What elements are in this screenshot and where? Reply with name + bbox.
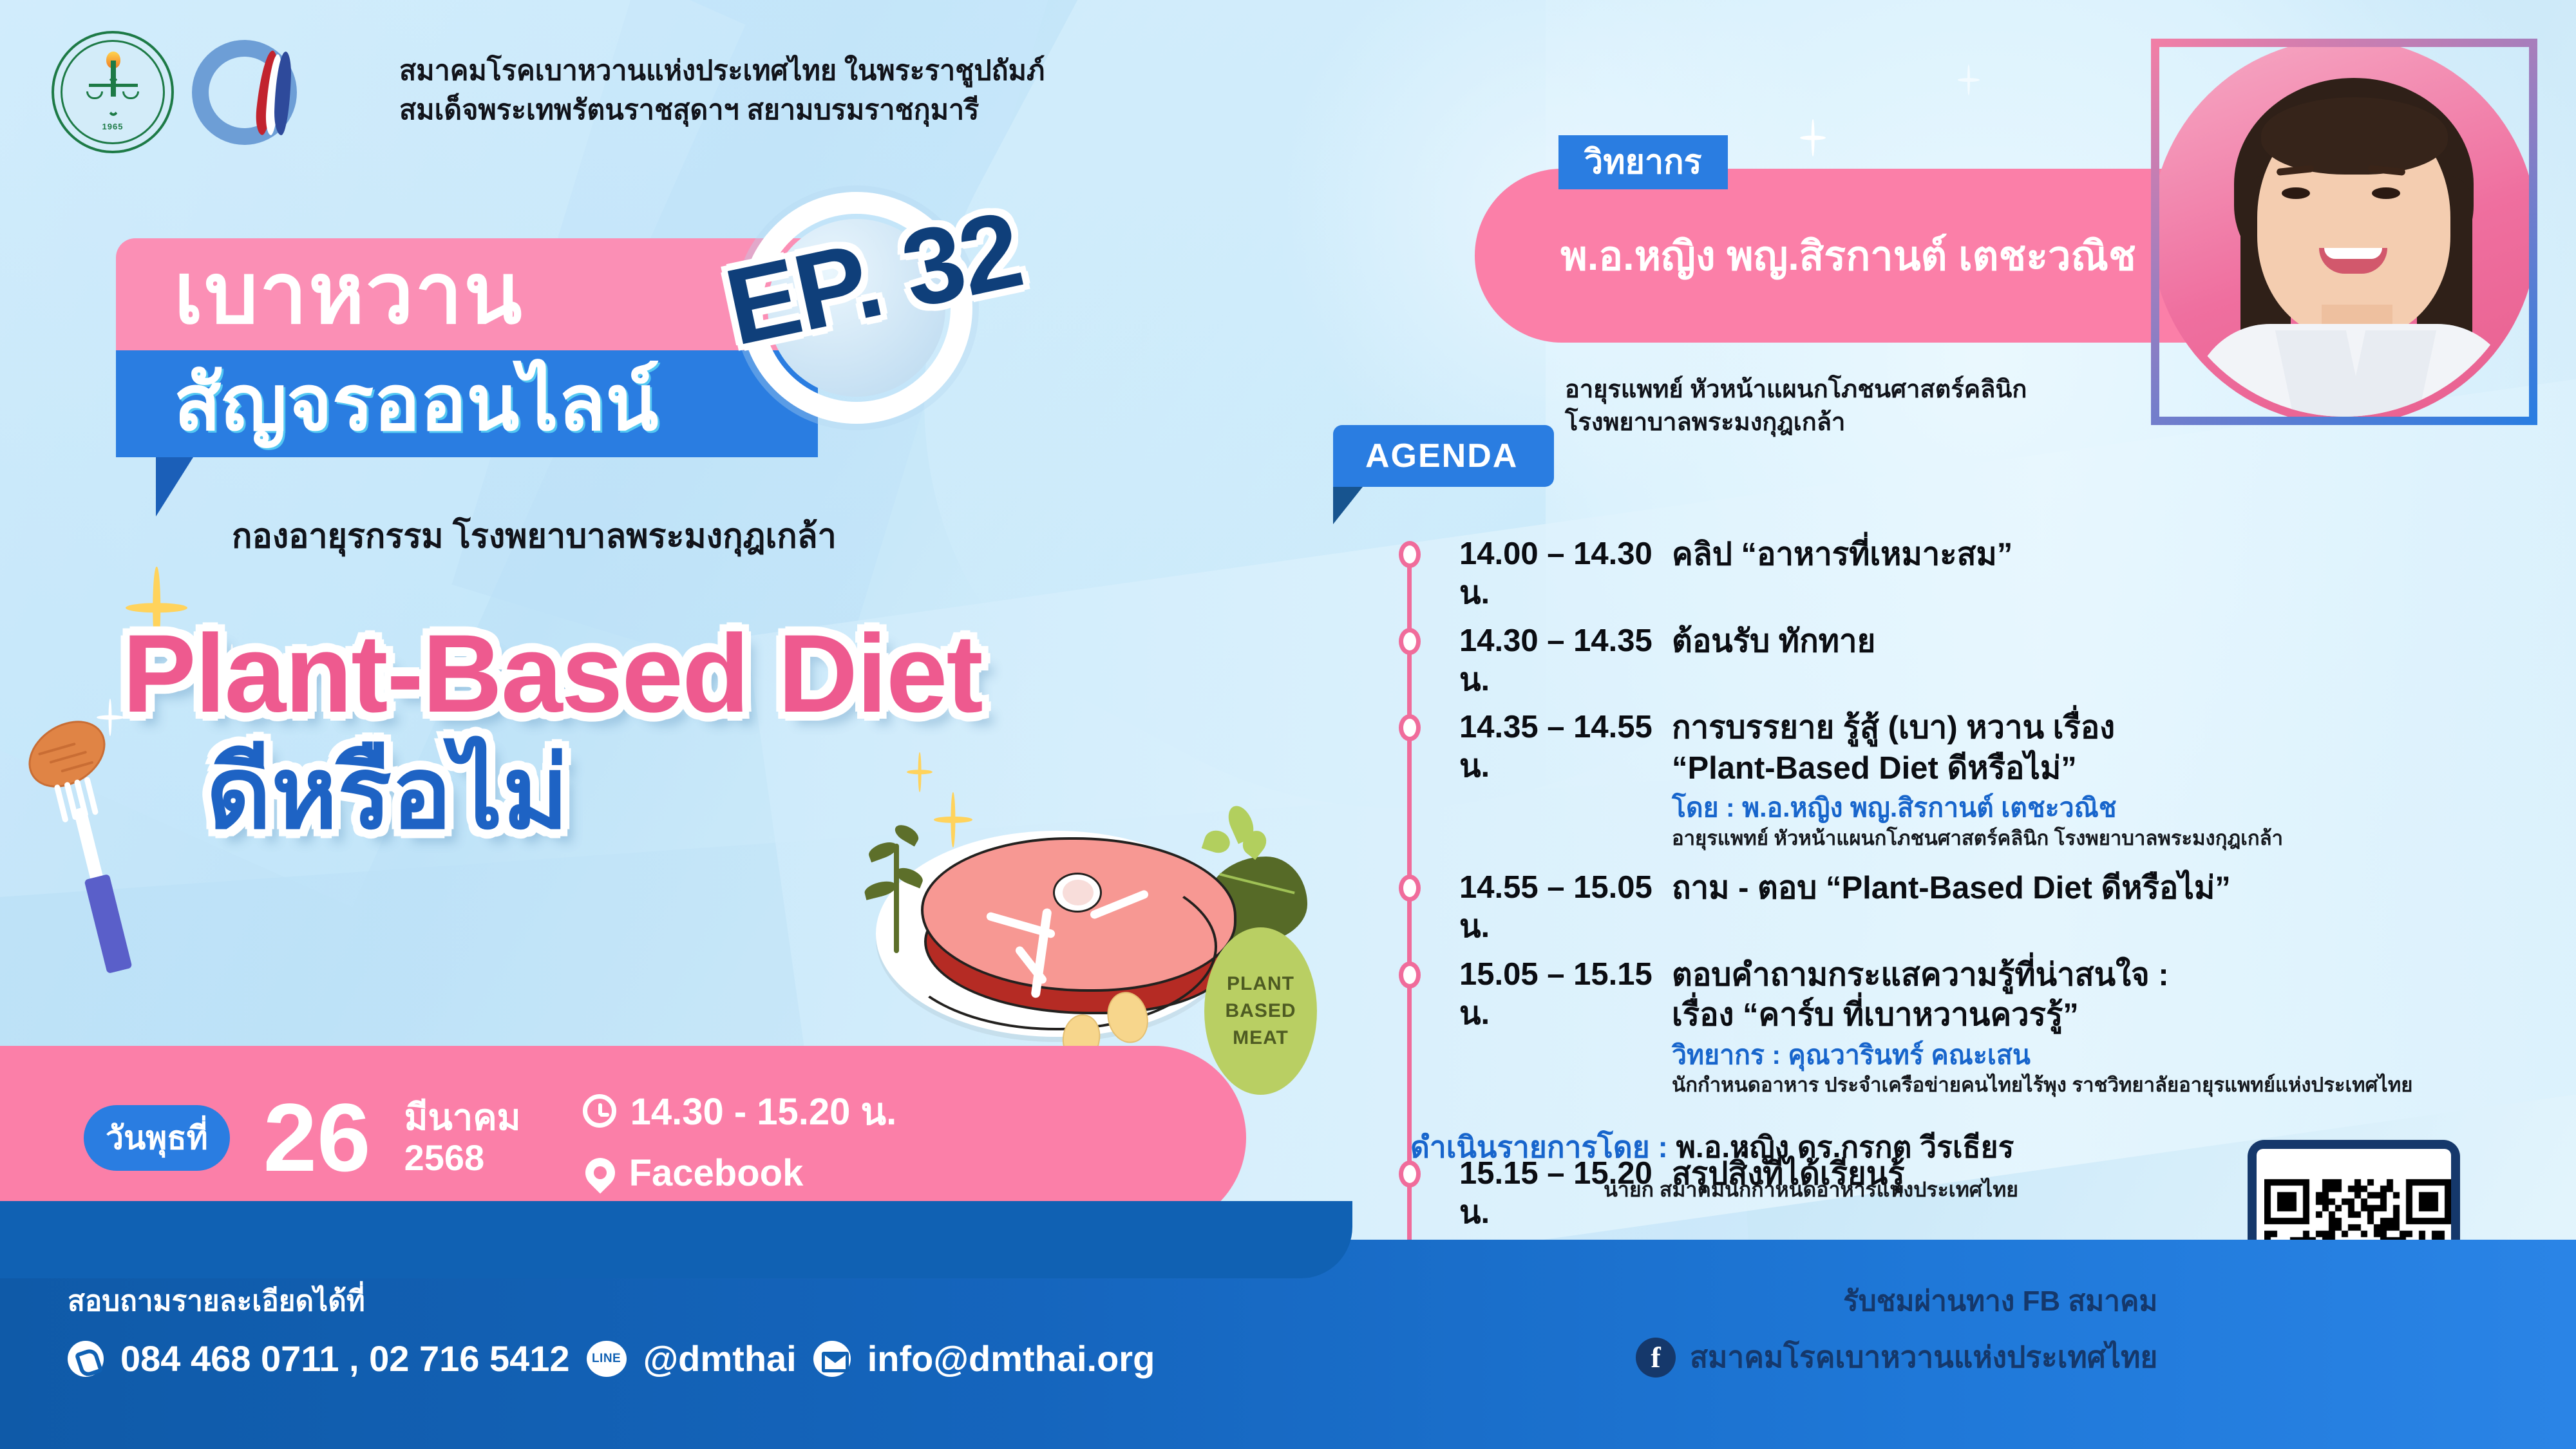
footer-watch: รับชมผ่านทาง FB สมาคม f สมาคมโรคเบาหวานแ… (1636, 1278, 2157, 1381)
location-pin-icon (579, 1151, 621, 1193)
agenda-row: 14.00 – 14.30 น.คลิป “อาหารที่เหมาะสม” (1397, 535, 2550, 614)
agenda-time: 15.05 – 15.15 น. (1459, 955, 1672, 1099)
speaker-subtitle: อายุรแพทย์ หัวหน้าแผนกโภชนศาสตร์คลินิก โ… (1565, 374, 2027, 440)
agenda-body: ต้อนรับ ทักทาย (1672, 621, 2550, 701)
agenda-time: 14.35 – 14.55 น. (1459, 708, 1672, 851)
agenda-row: 14.55 – 15.05 น.ถาม - ตอบ “Plant-Based D… (1397, 868, 2550, 947)
agenda-title-line: เรื่อง “คาร์บ ที่เบาหวานควรรู้” (1672, 995, 2550, 1036)
badge-line-3: MEAT (1233, 1027, 1289, 1049)
contact-heading: สอบถามรายละเอียดได้ที่ (68, 1278, 1155, 1323)
org-line-2: สมเด็จพระเทพรัตนราชสุดาฯ สยามบรมราชกุมาร… (399, 91, 1045, 130)
watch-line-1: รับชมผ่านทาง FB สมาคม (1636, 1278, 2157, 1323)
agenda-row: 14.30 – 14.35 น.ต้อนรับ ทักทาย (1397, 621, 2550, 701)
facebook-icon[interactable]: f (1636, 1338, 1676, 1378)
agenda-body: การบรรยาย รู้สู้ (เบา) หวาน เรื่อง“Plant… (1672, 708, 2550, 851)
day-number: 26 (263, 1092, 371, 1184)
badge-line-1: PLANT (1227, 973, 1294, 995)
agenda-title-line: คลิป “อาหารที่เหมาะสม” (1672, 535, 2550, 575)
plant-based-meat-badge: PLANT BASED MEAT (1204, 927, 1317, 1095)
email-address[interactable]: info@dmthai.org (867, 1338, 1155, 1379)
sparkle-icon (1800, 119, 1826, 156)
speaker-name: พ.อ.หญิง พญ.สิรกานต์ เตชะวณิช (1560, 223, 2136, 288)
agenda-timeline-dot (1399, 541, 1421, 568)
agenda-presenter: วิทยากร : คุณวารินทร์ คณะเสน (1672, 1038, 2550, 1072)
agenda-title-line: ถาม - ตอบ “Plant-Based Diet ดีหรือไม่” (1672, 868, 2550, 909)
month-label: มีนาคม (404, 1097, 521, 1138)
location-value: Facebook (629, 1151, 804, 1195)
agenda-tag-fold (1333, 487, 1363, 524)
agenda-body: คลิป “อาหารที่เหมาะสม” (1672, 535, 2550, 614)
mail-icon (813, 1341, 851, 1377)
header-logos: 1965 (52, 31, 301, 153)
agenda-body: ถาม - ตอบ “Plant-Based Diet ดีหรือไม่” (1672, 868, 2550, 947)
moderator-line: ดำเนินรายการโดย : พ.อ.หญิง ดร.กรกต วีรเธ… (1410, 1124, 2018, 1171)
org-line-1: สมาคมโรคเบาหวานแห่งประเทศไทย ในพระราชูปถ… (399, 52, 1045, 91)
year-label: 2568 (404, 1138, 521, 1179)
moderator-name: พ.อ.หญิง ดร.กรกต วีรเธียร (1676, 1130, 2014, 1164)
line-id[interactable]: @dmthai (643, 1338, 797, 1379)
agenda-presenter: โดย : พ.อ.หญิง พญ.สิรกานต์ เตชะวณิช (1672, 791, 2550, 825)
weekday-chip: วันพุธที่ (84, 1105, 230, 1171)
agenda-tag-label: AGENDA (1333, 425, 1554, 487)
footer-contact: สอบถามรายละเอียดได้ที่ 084 468 0711 , 02… (68, 1278, 1155, 1379)
thai-diabetes-network-logo-icon (188, 36, 301, 149)
time-row: 14.30 - 15.20 น. (583, 1081, 897, 1141)
ribbon-blue-text: สัญจรออนไลน์ (174, 361, 792, 446)
agenda-row: 14.35 – 14.55 น.การบรรยาย รู้สู้ (เบา) ห… (1397, 708, 2550, 851)
department-line: กองอายุรกรรม โรงพยาบาลพระมงกุฎเกล้า (232, 509, 837, 562)
agenda-timeline-dot (1399, 714, 1421, 741)
speaker-sub-line-1: อายุรแพทย์ หัวหน้าแผนกโภชนศาสตร์คลินิก (1565, 374, 2027, 406)
agenda-presenter-note: อายุรแพทย์ หัวหน้าแผนกโภชนศาสตร์คลินิก โ… (1672, 826, 2550, 851)
agenda-presenter-note: นักกำหนดอาหาร ประจำเครือข่ายคนไทยไร้พุง … (1672, 1072, 2550, 1098)
speaker-tag: วิทยากร (1558, 135, 1728, 189)
moderator-label: ดำเนินรายการโดย : (1410, 1130, 1676, 1164)
plate-rim (895, 863, 1217, 1030)
month-year: มีนาคม 2568 (404, 1097, 521, 1178)
agenda-title-line: “Plant-Based Diet ดีหรือไม่” (1672, 748, 2550, 789)
clock-icon (583, 1094, 616, 1128)
agenda-time: 14.00 – 14.30 น. (1459, 535, 1672, 614)
agenda-tag: AGENDA (1333, 425, 1554, 487)
plant-based-meat-illustration: PLANT BASED MEAT (760, 734, 1288, 1069)
agenda-title-line: ตอบคำถามกระแสความรู้ที่น่าสนใจ : (1672, 955, 2550, 996)
agenda-timeline-dot (1399, 628, 1421, 655)
agenda-body: ตอบคำถามกระแสความรู้ที่น่าสนใจ :เรื่อง “… (1672, 955, 2550, 1099)
agenda-timeline-dot (1399, 961, 1421, 989)
episode-badge: EP. 32 (702, 180, 1037, 483)
logo-year: 1965 (54, 122, 171, 131)
diabetes-association-logo-icon: 1965 (52, 31, 174, 153)
speaker-name-bar: พ.อ.หญิง พญ.สิรกานต์ เตชะวณิช (1475, 169, 2222, 343)
contact-row: 084 468 0711 , 02 716 5412 LINE @dmthai … (68, 1338, 1155, 1379)
phone-number[interactable]: 084 468 0711 , 02 716 5412 (120, 1338, 570, 1379)
moderator-block: ดำเนินรายการโดย : พ.อ.หญิง ดร.กรกต วีรเธ… (1410, 1124, 2018, 1206)
agenda-title-line: การบรรยาย รู้สู้ (เบา) หวาน เรื่อง (1672, 708, 2550, 748)
watch-line-2-row: f สมาคมโรคเบาหวานแห่งประเทศไทย (1636, 1334, 2157, 1381)
sparkle-icon (1958, 64, 1980, 95)
organization-name: สมาคมโรคเบาหวานแห่งประเทศไทย ในพระราชูปถ… (399, 52, 1045, 130)
ribbon-pink-text: เบาหวาน (174, 249, 792, 339)
poster-canvas: 1965 สมาคมโรคเบาหวานแห่งประเทศไทย ในพระร… (0, 0, 2576, 1449)
time-location-group: 14.30 - 15.20 น. Facebook (583, 1081, 897, 1195)
agenda-title-line: ต้อนรับ ทักทาย (1672, 621, 2550, 662)
time-value: 14.30 - 15.20 น. (630, 1081, 897, 1141)
sprout-icon (1204, 805, 1275, 876)
facebook-page-name[interactable]: สมาคมโรคเบาหวานแห่งประเทศไทย (1690, 1334, 2157, 1381)
moderator-note: นายก สมาคมนักกำหนดอาหารแห่งประเทศไทย (1604, 1173, 2018, 1206)
headline-english: Plant-Based Diet (122, 618, 982, 729)
agenda-row: 15.05 – 15.15 น.ตอบคำถามกระแสความรู้ที่น… (1397, 955, 2550, 1099)
ribbon-fold (156, 457, 193, 516)
phone-icon (68, 1341, 104, 1377)
location-row: Facebook (583, 1151, 897, 1195)
agenda-time: 14.30 – 14.35 น. (1459, 621, 1672, 701)
speaker-sub-line-2: โรงพยาบาลพระมงกุฎเกล้า (1565, 406, 2027, 439)
agenda-time: 14.55 – 15.05 น. (1459, 868, 1672, 947)
speaker-portrait (2151, 39, 2537, 425)
line-icon: LINE (587, 1341, 627, 1377)
agenda-timeline-dot (1399, 875, 1421, 902)
badge-line-2: BASED (1225, 1000, 1296, 1022)
